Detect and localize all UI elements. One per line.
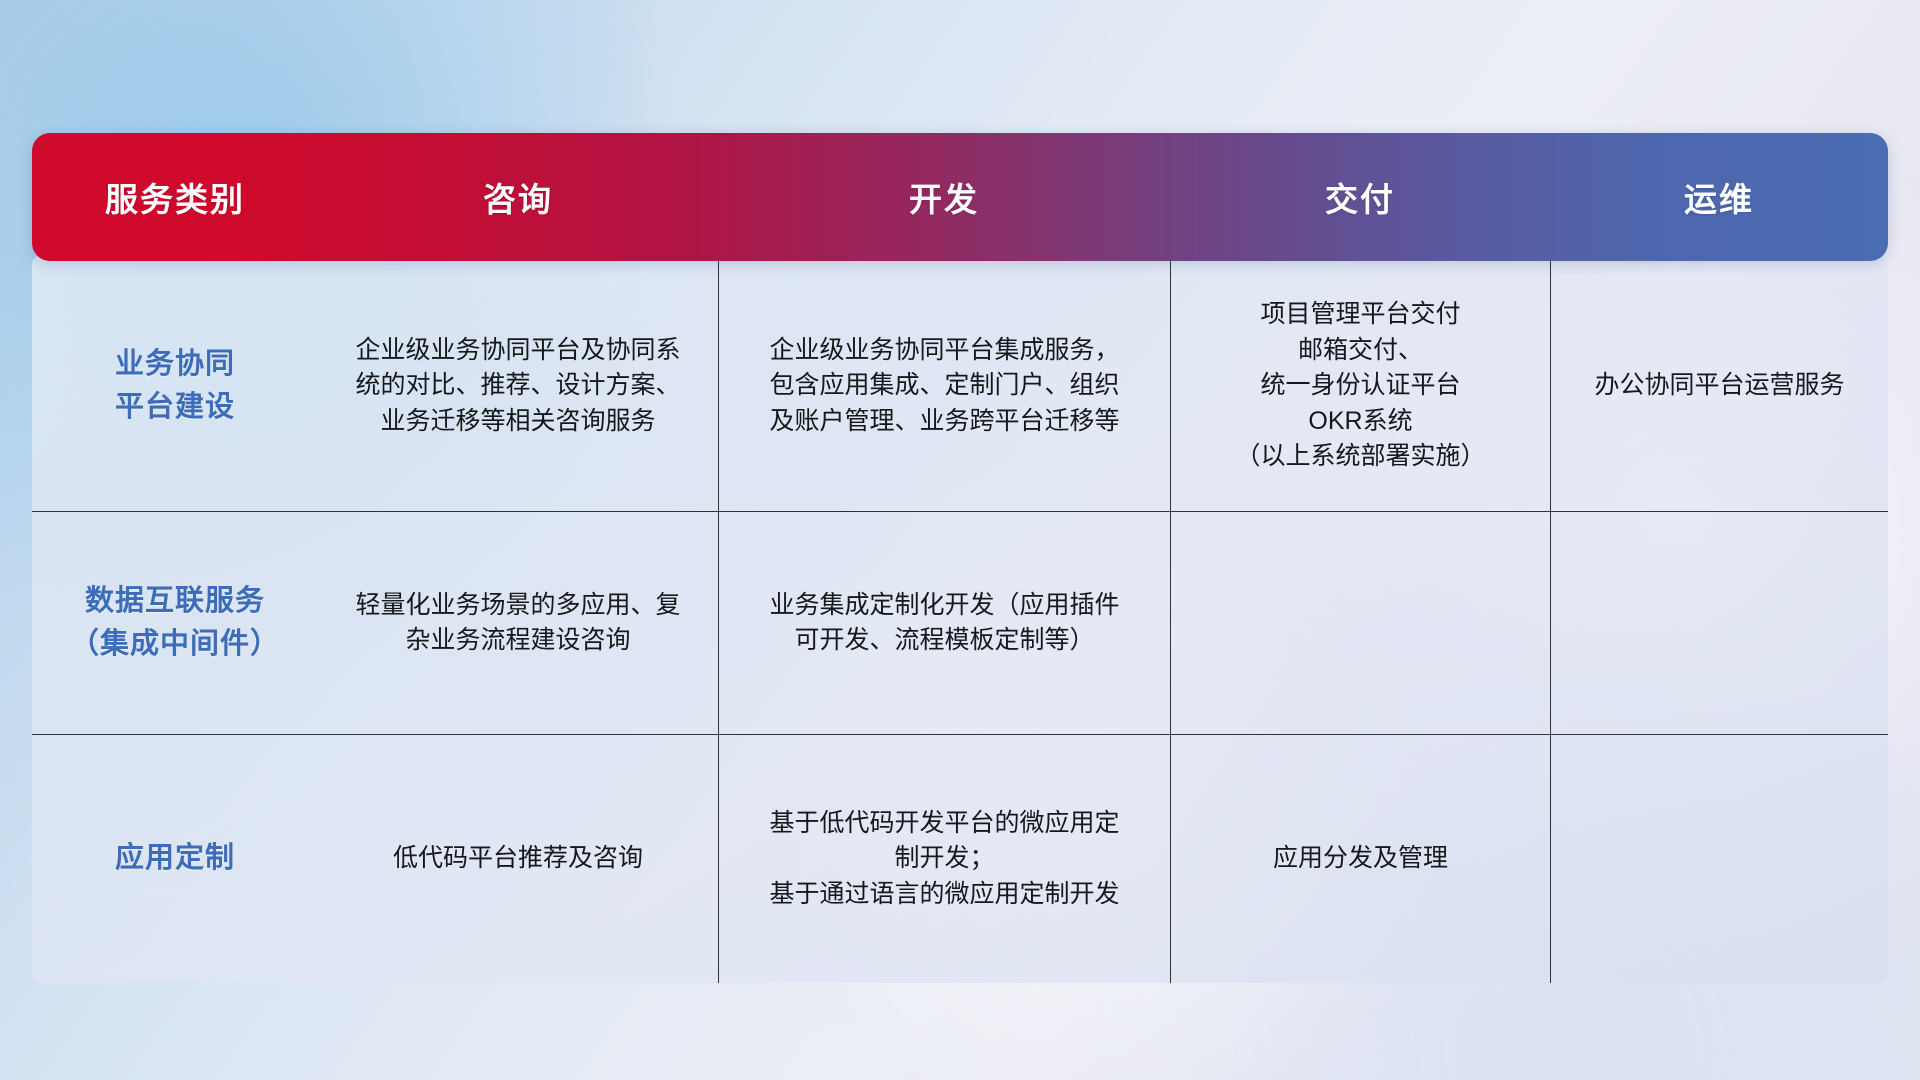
cell-development: 企业级业务协同平台集成服务， 包含应用集成、定制门户、组织 及账户管理、业务跨平…: [718, 261, 1170, 511]
cell-operations: [1550, 512, 1888, 734]
cell-delivery: 应用分发及管理: [1170, 735, 1550, 983]
cell-operations: [1550, 735, 1888, 983]
table-row: 业务协同 平台建设 企业级业务协同平台及协同系 统的对比、推荐、设计方案、 业务…: [32, 261, 1888, 511]
cell-development: 基于低代码开发平台的微应用定 制开发； 基于通过语言的微应用定制开发: [718, 735, 1170, 983]
header-cell-delivery: 交付: [1170, 133, 1550, 261]
category-label: 业务协同 平台建设: [115, 343, 235, 430]
header-label: 开发: [909, 173, 979, 221]
header-cell-consulting: 咨询: [318, 133, 718, 261]
header-cell-service-category: 服务类别: [32, 133, 318, 261]
table-row: 数据互联服务 （集成中间件） 轻量化业务场景的多应用、复 杂业务流程建设咨询 业…: [32, 511, 1888, 734]
category-label: 应用定制: [115, 837, 235, 881]
cell-consulting: 低代码平台推荐及咨询: [318, 735, 718, 983]
service-matrix-table: 服务类别 咨询 开发 交付 运维 业务协同 平台建设 企业级业务协同平台及协同系…: [32, 133, 1888, 983]
header-label: 运维: [1684, 173, 1754, 221]
cell-operations: 办公协同平台运营服务: [1550, 261, 1888, 511]
header-cell-development: 开发: [718, 133, 1170, 261]
table-body: 业务协同 平台建设 企业级业务协同平台及协同系 统的对比、推荐、设计方案、 业务…: [32, 255, 1888, 983]
header-cell-operations: 运维: [1550, 133, 1888, 261]
row-category-cell: 业务协同 平台建设: [32, 261, 318, 511]
cell-delivery: [1170, 512, 1550, 734]
header-label: 服务类别: [105, 173, 245, 221]
row-category-cell: 数据互联服务 （集成中间件）: [32, 512, 318, 734]
header-label: 咨询: [483, 173, 553, 221]
cell-consulting: 企业级业务协同平台及协同系 统的对比、推荐、设计方案、 业务迁移等相关咨询服务: [318, 261, 718, 511]
category-label: 数据互联服务 （集成中间件）: [70, 580, 280, 667]
cell-development: 业务集成定制化开发（应用插件 可开发、流程模板定制等）: [718, 512, 1170, 734]
header-label: 交付: [1325, 173, 1395, 221]
cell-delivery: 项目管理平台交付 邮箱交付、 统一身份认证平台 OKR系统 （以上系统部署实施）: [1170, 261, 1550, 511]
cell-consulting: 轻量化业务场景的多应用、复 杂业务流程建设咨询: [318, 512, 718, 734]
table-header-row: 服务类别 咨询 开发 交付 运维: [32, 133, 1888, 261]
row-category-cell: 应用定制: [32, 735, 318, 983]
table-row: 应用定制 低代码平台推荐及咨询 基于低代码开发平台的微应用定 制开发； 基于通过…: [32, 734, 1888, 983]
